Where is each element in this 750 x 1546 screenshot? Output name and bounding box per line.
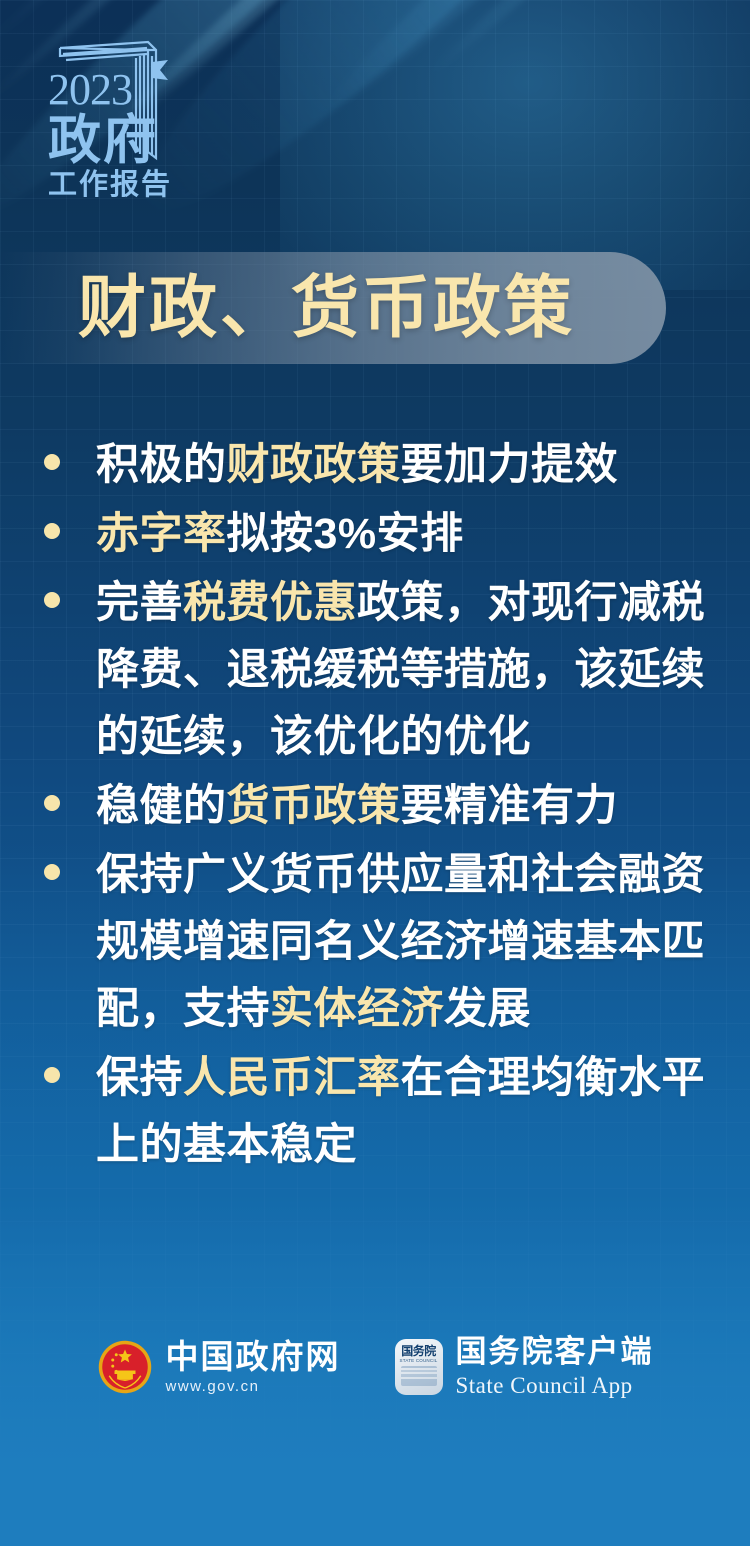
state-council-app-name-en: State Council App bbox=[456, 1374, 654, 1397]
bullet-marker bbox=[44, 432, 96, 470]
masthead-year: 2023 bbox=[48, 68, 172, 112]
plain-phrase: 要加力提效 bbox=[401, 441, 619, 489]
plain-phrase: 拟按3%安排 bbox=[227, 510, 464, 558]
app-badge-label: 国务院 bbox=[401, 1345, 436, 1358]
highlighted-phrase: 税费优惠 bbox=[183, 579, 357, 627]
highlighted-phrase: 货币政策 bbox=[227, 782, 401, 830]
plain-phrase: 完善 bbox=[96, 579, 183, 627]
bullet-dot-icon bbox=[44, 592, 60, 608]
list-item-text: 稳健的货币政策要精准有力 bbox=[96, 773, 716, 840]
gov-cn-url: www.gov.cn bbox=[166, 1379, 341, 1394]
state-council-app-logo[interactable]: 国务院 STATE COUNCIL 国务院客户端 State Council A… bbox=[395, 1336, 654, 1397]
list-item: 赤字率拟按3%安排 bbox=[44, 501, 716, 568]
gov-cn-logo[interactable]: 中国政府网 www.gov.cn bbox=[97, 1339, 341, 1395]
list-item-text: 保持人民币汇率在合理均衡水平上的基本稳定 bbox=[96, 1045, 716, 1179]
plain-phrase: 要精准有力 bbox=[401, 782, 619, 830]
list-item: 完善税费优惠政策，对现行减税降费、退税缓税等措施，该延续的延续，该优化的优化 bbox=[44, 570, 716, 771]
policy-list: 积极的财政政策要加力提效赤字率拟按3%安排完善税费优惠政策，对现行减税降费、退税… bbox=[44, 432, 716, 1181]
highlighted-phrase: 人民币汇率 bbox=[183, 1054, 401, 1102]
list-item: 积极的财政政策要加力提效 bbox=[44, 432, 716, 499]
state-council-app-name: 国务院客户端 bbox=[456, 1336, 654, 1367]
bullet-marker bbox=[44, 773, 96, 811]
gate-glyph bbox=[401, 1366, 437, 1386]
footer: 中国政府网 www.gov.cn 国务院 STATE COUNCIL 国务院客户… bbox=[0, 1336, 750, 1397]
list-item-text: 赤字率拟按3%安排 bbox=[96, 501, 716, 568]
top-light-rays bbox=[170, 0, 750, 480]
list-item: 保持广义货币供应量和社会融资规模增速同名义经济增速基本匹配，支持实体经济发展 bbox=[44, 842, 716, 1043]
highlighted-phrase: 赤字率 bbox=[96, 510, 227, 558]
highlighted-phrase: 实体经济 bbox=[270, 985, 444, 1033]
masthead-logo: 2023 政府 工作报告 bbox=[44, 38, 204, 193]
app-badge-sublabel: STATE COUNCIL bbox=[400, 1358, 438, 1363]
plain-phrase: 积极的 bbox=[96, 441, 227, 489]
plain-phrase: 稳健的 bbox=[96, 782, 227, 830]
plain-phrase: 发展 bbox=[444, 985, 531, 1033]
list-item: 稳健的货币政策要精准有力 bbox=[44, 773, 716, 840]
page-title: 财政、货币政策 bbox=[78, 258, 575, 358]
list-item-text: 保持广义货币供应量和社会融资规模增速同名义经济增速基本匹配，支持实体经济发展 bbox=[96, 842, 716, 1043]
top-glow bbox=[280, 0, 750, 290]
bullet-dot-icon bbox=[44, 864, 60, 880]
bullet-dot-icon bbox=[44, 454, 60, 470]
bullet-dot-icon bbox=[44, 523, 60, 539]
gov-cn-name: 中国政府网 bbox=[166, 1340, 341, 1373]
state-council-app-icon: 国务院 STATE COUNCIL bbox=[395, 1339, 443, 1395]
list-item-text: 完善税费优惠政策，对现行减税降费、退税缓税等措施，该延续的延续，该优化的优化 bbox=[96, 570, 716, 771]
plain-phrase: 保持 bbox=[96, 1054, 183, 1102]
masthead-subtitle: 工作报告 bbox=[48, 171, 172, 200]
bullet-dot-icon bbox=[44, 795, 60, 811]
bullet-marker bbox=[44, 501, 96, 539]
bullet-marker bbox=[44, 570, 96, 608]
masthead-title: 政府 bbox=[48, 114, 172, 167]
poster-canvas: 2023 政府 工作报告 财政、货币政策 积极的财政政策要加力提效赤字率拟按3%… bbox=[0, 0, 750, 1546]
bullet-marker bbox=[44, 1045, 96, 1083]
list-item-text: 积极的财政政策要加力提效 bbox=[96, 432, 716, 499]
bullet-marker bbox=[44, 842, 96, 880]
bullet-dot-icon bbox=[44, 1067, 60, 1083]
highlighted-phrase: 财政政策 bbox=[227, 441, 401, 489]
national-emblem-icon bbox=[97, 1339, 153, 1395]
list-item: 保持人民币汇率在合理均衡水平上的基本稳定 bbox=[44, 1045, 716, 1179]
